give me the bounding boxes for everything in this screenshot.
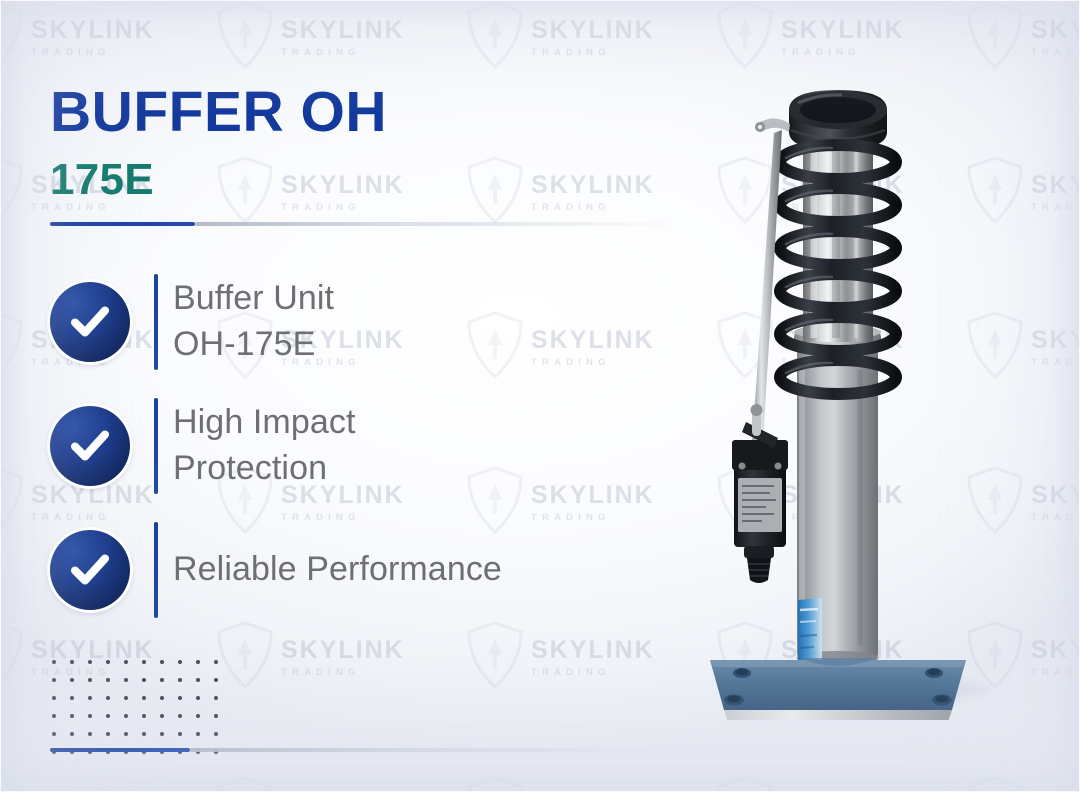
limit-switch-box bbox=[732, 404, 788, 547]
blue-product-label bbox=[798, 598, 822, 668]
grid-dot bbox=[88, 696, 92, 700]
grid-dot bbox=[214, 714, 218, 718]
feature-accent-bar bbox=[154, 522, 158, 618]
grid-dot bbox=[160, 714, 164, 718]
grid-dot bbox=[214, 678, 218, 682]
product-banner: SKYLINKTRADINGSKYLINKTRADINGSKYLINKTRADI… bbox=[0, 0, 1080, 792]
watermark-text: SKYLINKTRADING bbox=[31, 18, 155, 58]
shield-logo-icon bbox=[966, 1, 1024, 74]
shield-logo-icon bbox=[0, 156, 24, 229]
grid-dot bbox=[124, 732, 128, 736]
divider-blue-segment bbox=[50, 222, 195, 226]
elevator-oil-buffer-photo bbox=[690, 70, 1070, 720]
watermark-brand: SKYLINK bbox=[531, 173, 655, 198]
model-number: 175E bbox=[50, 158, 154, 202]
grid-dot bbox=[70, 660, 74, 664]
cable-gland bbox=[744, 546, 774, 583]
grid-dot bbox=[196, 678, 200, 682]
grid-dot bbox=[214, 732, 218, 736]
watermark-text: SKYLINKTRADING bbox=[1031, 18, 1080, 58]
grid-dot bbox=[106, 714, 110, 718]
grid-dot bbox=[70, 678, 74, 682]
watermark-tagline: TRADING bbox=[31, 48, 155, 58]
watermark-tagline: TRADING bbox=[1031, 48, 1080, 58]
watermark-brand: SKYLINK bbox=[281, 638, 405, 663]
shield-logo-icon bbox=[216, 1, 274, 74]
check-icon bbox=[50, 282, 130, 362]
grid-dot bbox=[142, 714, 146, 718]
divider-blue-segment bbox=[50, 748, 190, 752]
grid-dot bbox=[196, 732, 200, 736]
feature-label: High ImpactProtection bbox=[173, 400, 356, 491]
watermark-tagline: TRADING bbox=[281, 203, 405, 213]
grid-dot bbox=[178, 732, 182, 736]
watermark-brand: SKYLINK bbox=[31, 18, 155, 43]
grid-dot bbox=[70, 732, 74, 736]
feature-label-line1: Buffer Unit bbox=[173, 279, 334, 317]
grid-dot bbox=[70, 714, 74, 718]
feature-item: Reliable Performance bbox=[50, 508, 610, 632]
feature-label-line1: Reliable Performance bbox=[173, 550, 502, 588]
watermark-text: SKYLINKTRADING bbox=[531, 18, 655, 58]
shield-logo-icon bbox=[0, 621, 24, 694]
watermark-text: SKYLINKTRADING bbox=[531, 173, 655, 213]
grid-dot bbox=[88, 732, 92, 736]
watermark-tile: SKYLINKTRADING bbox=[460, 115, 710, 270]
grid-dot bbox=[142, 678, 146, 682]
watermark-tagline: TRADING bbox=[31, 203, 155, 213]
shield-logo-icon bbox=[0, 776, 24, 792]
watermark-text: SKYLINKTRADING bbox=[531, 638, 655, 678]
grid-dot bbox=[214, 660, 218, 664]
grid-dot bbox=[178, 660, 182, 664]
feature-label-line1: High Impact bbox=[173, 403, 356, 441]
grid-dot bbox=[160, 696, 164, 700]
shield-logo-icon bbox=[966, 776, 1024, 792]
grid-dot bbox=[178, 678, 182, 682]
watermark-text: SKYLINKTRADING bbox=[781, 18, 905, 58]
watermark-tagline: TRADING bbox=[281, 48, 405, 58]
grid-dot bbox=[178, 696, 182, 700]
watermark-tile: SKYLINKTRADING bbox=[960, 735, 1080, 792]
divider-gray-segment bbox=[195, 222, 670, 226]
grid-dot bbox=[52, 732, 56, 736]
feature-item: Buffer UnitOH-175E bbox=[50, 260, 610, 384]
watermark-text: SKYLINKTRADING bbox=[281, 638, 405, 678]
feature-accent-bar bbox=[154, 274, 158, 370]
watermark-brand: SKYLINK bbox=[31, 638, 155, 663]
grid-dot bbox=[124, 696, 128, 700]
feature-label: Buffer UnitOH-175E bbox=[173, 276, 334, 367]
grid-dot bbox=[106, 696, 110, 700]
watermark-brand: SKYLINK bbox=[531, 638, 655, 663]
title-divider-rule bbox=[50, 222, 670, 226]
shield-logo-icon bbox=[716, 776, 774, 792]
blue-mounting-base-plate bbox=[710, 658, 966, 720]
feature-item: High ImpactProtection bbox=[50, 384, 610, 508]
grid-dot bbox=[70, 696, 74, 700]
watermark-tagline: TRADING bbox=[781, 48, 905, 58]
shield-logo-icon bbox=[0, 1, 24, 74]
watermark-tile: SKYLINKTRADING bbox=[460, 735, 710, 792]
watermark-tile: SKYLINKTRADING bbox=[460, 0, 710, 115]
grid-dot bbox=[124, 678, 128, 682]
watermark-tile: SKYLINKTRADING bbox=[710, 735, 960, 792]
grid-dot bbox=[142, 696, 146, 700]
grid-dot bbox=[106, 678, 110, 682]
grid-dot bbox=[124, 714, 128, 718]
watermark-brand: SKYLINK bbox=[1031, 18, 1080, 43]
watermark-brand: SKYLINK bbox=[531, 18, 655, 43]
shield-logo-icon bbox=[466, 156, 524, 229]
feature-label: Reliable Performance bbox=[173, 547, 502, 593]
grid-dot bbox=[88, 714, 92, 718]
shield-logo-icon bbox=[466, 776, 524, 792]
grid-dot bbox=[52, 660, 56, 664]
grid-dot bbox=[196, 696, 200, 700]
grid-dot bbox=[88, 678, 92, 682]
grid-dot bbox=[142, 732, 146, 736]
feature-label-line2: Protection bbox=[173, 446, 356, 492]
page-title: BUFFER OH bbox=[50, 84, 387, 141]
feature-accent-bar bbox=[154, 398, 158, 494]
grid-dot bbox=[160, 678, 164, 682]
divider-gray-segment bbox=[190, 748, 650, 752]
grid-dot bbox=[142, 660, 146, 664]
watermark-tagline: TRADING bbox=[531, 48, 655, 58]
grid-dot bbox=[178, 714, 182, 718]
watermark-tile: SKYLINKTRADING bbox=[210, 735, 460, 792]
grid-dot bbox=[52, 696, 56, 700]
watermark-text: SKYLINKTRADING bbox=[281, 173, 405, 213]
footer-divider-rule bbox=[50, 748, 650, 752]
grid-dot bbox=[106, 732, 110, 736]
grid-dot bbox=[214, 696, 218, 700]
feature-list: Buffer UnitOH-175EHigh ImpactProtectionR… bbox=[50, 260, 610, 632]
shield-logo-icon bbox=[466, 1, 524, 74]
check-icon bbox=[50, 530, 130, 610]
grid-dot bbox=[196, 660, 200, 664]
shield-logo-icon bbox=[216, 776, 274, 792]
grid-dot bbox=[52, 678, 56, 682]
grid-dot bbox=[196, 714, 200, 718]
watermark-text: SKYLINKTRADING bbox=[281, 18, 405, 58]
shield-logo-icon bbox=[216, 156, 274, 229]
watermark-brand: SKYLINK bbox=[281, 173, 405, 198]
grid-dot bbox=[160, 660, 164, 664]
grid-dot bbox=[124, 660, 128, 664]
grid-dot bbox=[52, 714, 56, 718]
shield-logo-icon bbox=[716, 1, 774, 74]
feature-label-line2: OH-175E bbox=[173, 322, 334, 368]
check-icon bbox=[50, 406, 130, 486]
grid-dot bbox=[88, 660, 92, 664]
watermark-tagline: TRADING bbox=[531, 203, 655, 213]
shield-logo-icon bbox=[0, 311, 24, 384]
watermark-brand: SKYLINK bbox=[781, 18, 905, 43]
grid-dot bbox=[160, 732, 164, 736]
watermark-tagline: TRADING bbox=[281, 668, 405, 678]
shield-logo-icon bbox=[0, 466, 24, 539]
watermark-tagline: TRADING bbox=[531, 668, 655, 678]
grid-dot bbox=[106, 660, 110, 664]
watermark-brand: SKYLINK bbox=[281, 18, 405, 43]
